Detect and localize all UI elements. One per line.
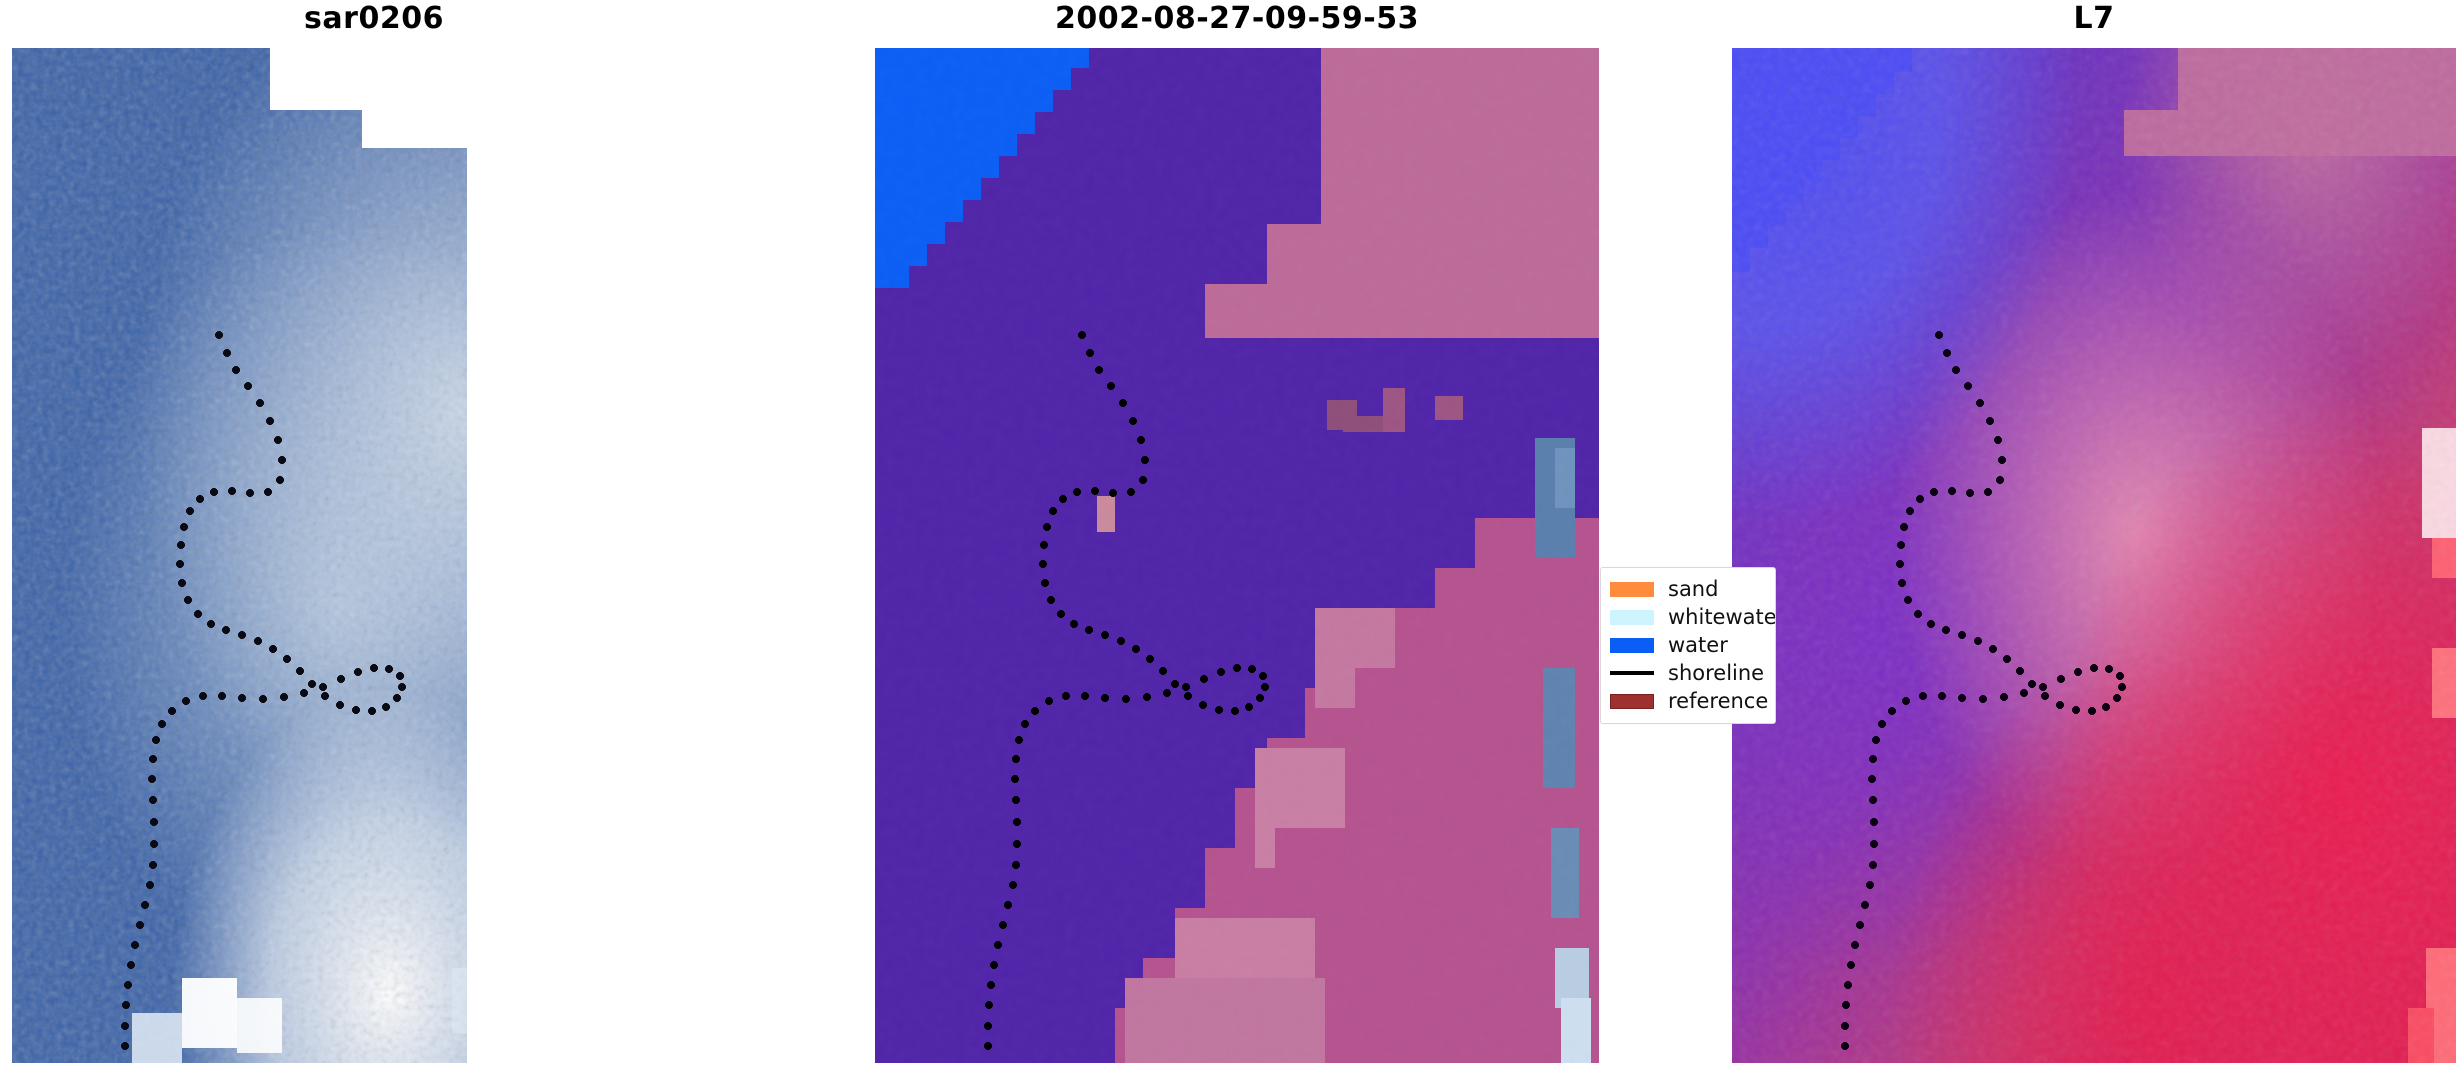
square-swatch-icon bbox=[1610, 694, 1654, 709]
legend-label-shoreline: shoreline bbox=[1668, 661, 1764, 685]
sar-raster bbox=[12, 48, 736, 1063]
legend-item-whitewater[interactable]: whitewater bbox=[1610, 603, 1775, 631]
panel-classification[interactable] bbox=[875, 48, 1599, 1063]
l7-raster bbox=[1732, 48, 2456, 1063]
panel-title-sar: sar0206 bbox=[12, 2, 736, 36]
square-swatch-icon bbox=[1610, 582, 1654, 597]
line-swatch-icon bbox=[1610, 671, 1654, 675]
panel-title-l7: L7 bbox=[1732, 2, 2456, 36]
legend-label-whitewater: whitewater bbox=[1668, 605, 1776, 629]
panel-title-classification: 2002-08-27-09-59-53 bbox=[875, 2, 1599, 36]
square-swatch-icon bbox=[1610, 638, 1654, 653]
figure-root: sar0206 bbox=[0, 0, 2460, 1079]
panel-sar0206[interactable] bbox=[12, 48, 736, 1063]
legend-item-water[interactable]: water bbox=[1610, 631, 1775, 659]
legend-label-sand: sand bbox=[1668, 577, 1718, 601]
panel-l7[interactable] bbox=[1732, 48, 2456, 1063]
square-swatch-icon bbox=[1610, 610, 1654, 625]
legend-label-reference: reference bbox=[1668, 689, 1768, 713]
legend-item-shoreline[interactable]: shoreline bbox=[1610, 659, 1775, 687]
legend-label-water: water bbox=[1668, 633, 1728, 657]
legend-item-sand[interactable]: sand bbox=[1610, 575, 1775, 603]
legend-item-reference[interactable]: reference bbox=[1610, 687, 1775, 715]
classification-raster bbox=[875, 48, 1599, 1063]
legend-box[interactable]: sand whitewater water shoreline referenc… bbox=[1600, 567, 1776, 724]
